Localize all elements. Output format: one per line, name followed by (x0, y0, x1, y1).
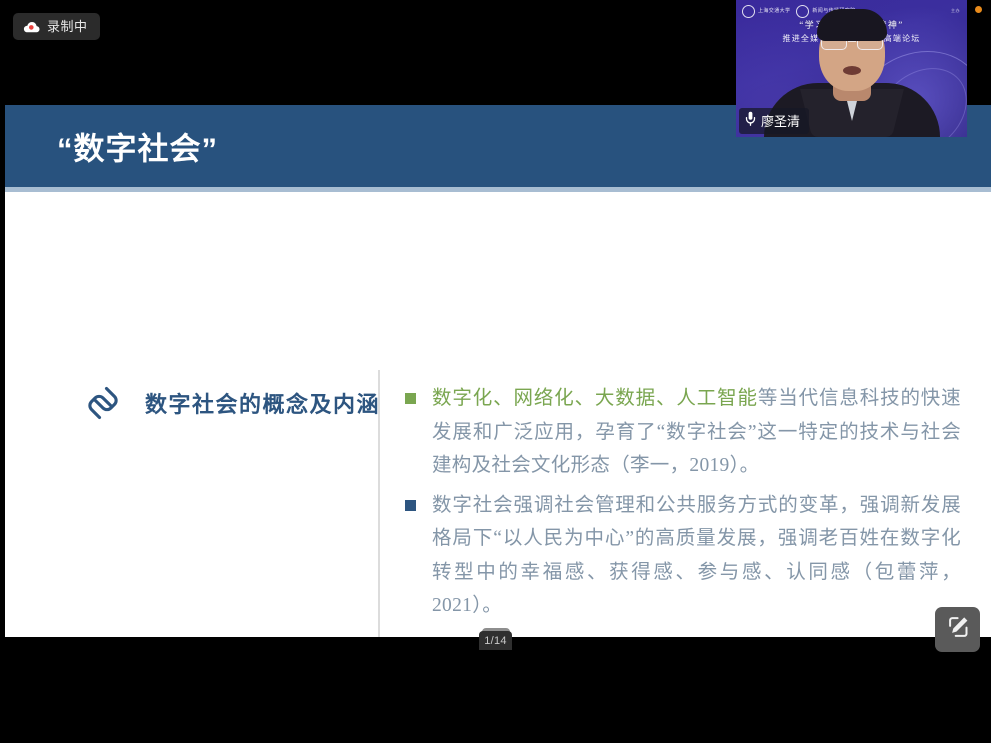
bullet-marker-blue (405, 500, 416, 511)
background-corner-text: 主办 (951, 8, 960, 14)
list-item: 数字化、网络化、大数据、人工智能等当代信息科技的快速发展和广泛应用，孕育了“数字… (405, 382, 961, 483)
university-logo-left-text: 上海交通大学 (758, 9, 790, 14)
presentation-slide[interactable]: “数字社会” 数字社会的概念及内涵 数字化、网络化、大数据、人工智能等当代信息科… (5, 105, 991, 637)
bullet-text: 数字化、网络化、大数据、人工智能等当代信息科技的快速发展和广泛应用，孕育了“数字… (432, 382, 961, 483)
speaker-hair (817, 9, 887, 41)
section-heading: 数字社会的概念及内涵 (145, 387, 380, 419)
speaker-name-label: 廖圣清 (761, 115, 800, 128)
slide-section-header: 数字社会的概念及内涵 (5, 382, 377, 424)
institute-seal-icon (796, 5, 809, 18)
cloud-record-icon (23, 21, 40, 33)
bullet-rest: 数字社会强调社会管理和公共服务方式的变革，强调新发展格局下“以人民为中心”的高质… (432, 495, 961, 617)
slide-body: 数字社会的概念及内涵 数字化、网络化、大数据、人工智能等当代信息科技的快速发展和… (5, 192, 991, 637)
status-dot (975, 6, 982, 13)
slide-title: “数字社会” (57, 124, 218, 169)
pencil-annotate-icon (946, 615, 970, 644)
bullet-text: 数字社会强调社会管理和公共服务方式的变革，强调新发展格局下“以人民为中心”的高质… (432, 489, 961, 623)
microphone-icon (745, 111, 756, 131)
bullet-list: 数字化、网络化、大数据、人工智能等当代信息科技的快速发展和广泛应用，孕育了“数字… (405, 382, 961, 629)
university-logo-left: 上海交通大学 (742, 5, 790, 18)
list-item: 数字社会强调社会管理和公共服务方式的变革，强调新发展格局下“以人民为中心”的高质… (405, 489, 961, 623)
recording-badge[interactable]: 录制中 (13, 13, 100, 40)
speaker-mouth (843, 66, 861, 75)
annotate-button[interactable] (935, 607, 980, 652)
recording-badge-label: 录制中 (47, 20, 88, 33)
speaker-name-plate: 廖圣清 (739, 108, 809, 134)
bullet-marker-green (405, 393, 416, 404)
column-divider (378, 370, 380, 637)
university-seal-icon (742, 5, 755, 18)
link-icon (83, 382, 123, 424)
page-indicator[interactable]: 1/14 (479, 631, 512, 650)
bullet-highlight: 数字化、网络化、大数据、人工智能 (432, 388, 758, 409)
speaker-video-tile[interactable]: 上海交通大学 新闻与传播研究院 主办 “学习党的二十大精神” 推进全媒体传播体系… (736, 0, 967, 137)
